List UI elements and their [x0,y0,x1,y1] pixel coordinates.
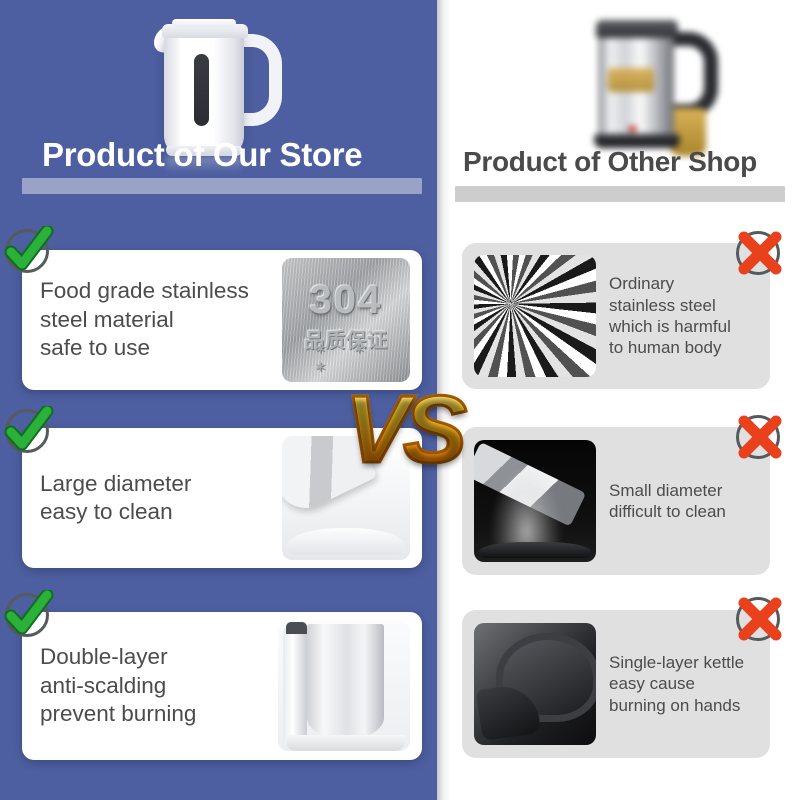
other-feature-text-3: Single-layer kettle easy cause burning o… [609,652,756,716]
kettle-gold-infuser [608,68,654,92]
our-store-title: Product of Our Store [22,138,422,171]
water-level-window [194,54,209,126]
stainless-304-stamp-thumbnail: 304 品质保证 ✶ ✶ ✶ [282,258,410,382]
other-feature-card-1[interactable]: Ordinary stainless steel which is harmfu… [462,243,770,389]
steel-stars-label: ✶ ✶ ✶ [314,340,378,376]
kettle-foot-shape [286,735,405,751]
kettle-rim [287,528,405,555]
red-cross-icon [733,228,785,280]
red-cross-icon [733,412,785,464]
kettle-power-light [628,126,637,132]
rough-steel-surface-thumbnail [474,255,596,377]
outer-wall-shape [283,626,307,746]
other-feature-text-2: Small diameter difficult to clean [609,480,756,523]
our-feature-text-3: Double-layer anti-scalding prevent burni… [40,643,196,728]
kettle-lip-shape [286,622,307,634]
red-cross-icon [733,594,785,646]
green-check-icon [2,590,54,642]
green-check-icon [2,406,54,458]
other-shop-header: Product of Other Shop [455,148,785,176]
green-check-icon [2,226,54,278]
our-feature-text-2: Large diameter easy to clean [40,470,191,527]
other-feature-card-3[interactable]: Single-layer kettle easy cause burning o… [462,610,770,758]
our-feature-card-2[interactable]: Large diameter easy to clean [22,428,422,568]
our-feature-text-1: Food grade stainless steel material safe… [40,277,249,362]
steam-plume-shape [491,467,562,548]
wide-mouth-kettle-thumbnail [282,436,410,560]
kettle-lid-top [172,19,236,27]
inner-wall-shape [307,624,384,738]
our-feature-card-1[interactable]: Food grade stainless steel material safe… [22,250,422,390]
our-store-header: Product of Our Store [22,138,422,171]
comparison-infographic: Product of Our Store Product of Other Sh… [0,0,800,800]
black-single-wall-kettle-thumbnail [474,623,596,745]
other-shop-title: Product of Other Shop [455,148,785,176]
glass-steel-kettle-image [592,6,762,156]
double-wall-interior-thumbnail [278,621,410,751]
open-lid-shape [282,436,377,518]
kettle-lid [596,20,678,38]
our-feature-card-3[interactable]: Double-layer anti-scalding prevent burni… [22,612,422,760]
kettle-plate-shape [479,542,591,558]
other-feature-text-1: Ordinary stainless steel which is harmfu… [609,273,756,359]
steel-grade-label: 304 [310,278,383,323]
other-feature-card-2[interactable]: Small diameter difficult to clean [462,427,770,575]
header-underline-bar [455,186,785,202]
narrow-mouth-steam-thumbnail [474,440,596,562]
header-underline-bar [22,178,422,194]
